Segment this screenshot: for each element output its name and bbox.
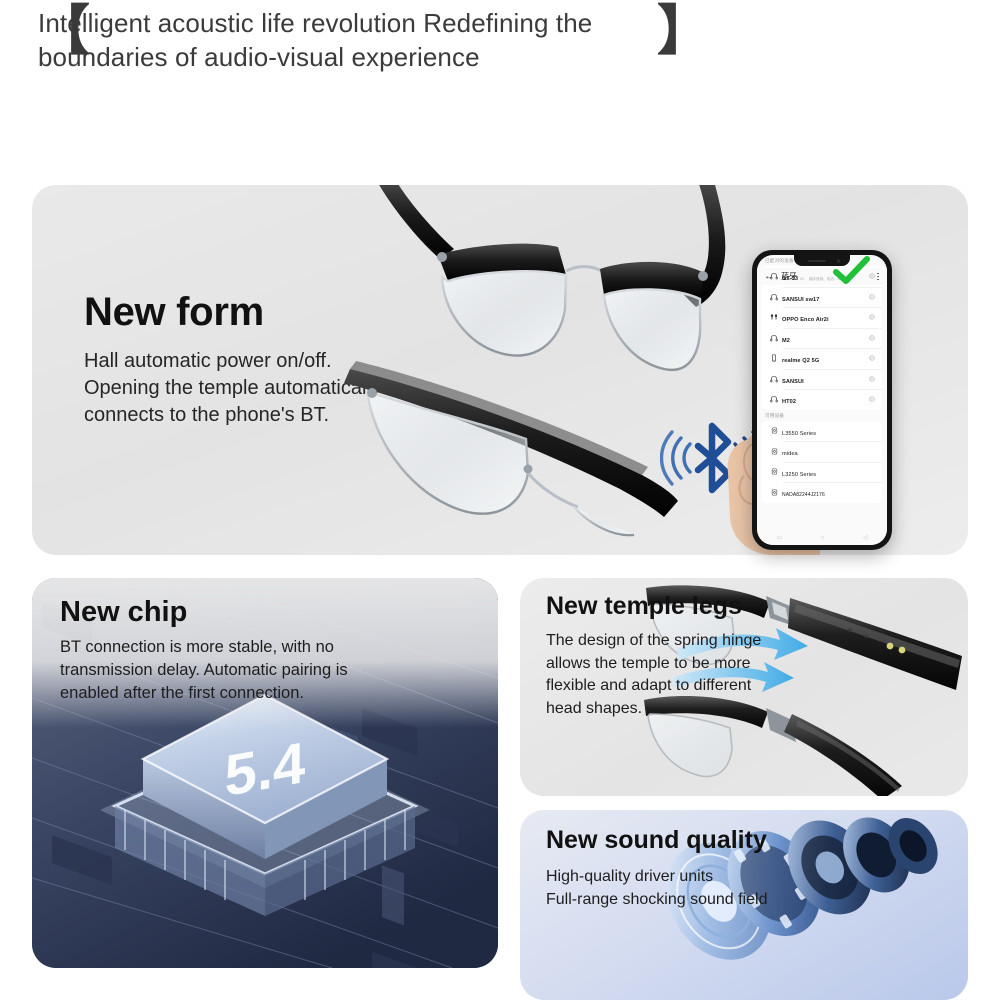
- device-name: SANSUI sw17: [782, 297, 819, 303]
- panel-chip-body-line-2: transmission delay. Automatic pairing is: [60, 659, 420, 682]
- available-section-label: 可用设备: [757, 410, 887, 421]
- device-text: SANSUI: [780, 370, 867, 388]
- connected-check-icon: [831, 256, 871, 286]
- back-button[interactable]: ◁: [863, 534, 868, 541]
- header-line-1: Intelligent acoustic life revolution Red…: [38, 6, 678, 40]
- device-text: L3250 Series: [780, 463, 876, 481]
- panel-form-body-line-2: Opening the temple automatically: [84, 375, 381, 402]
- device-text: NADA82244J2176: [780, 483, 876, 501]
- panel-temple-body-line-2: allows the temple to be more: [546, 653, 796, 676]
- panel-temple-title: New temple legs: [546, 592, 742, 621]
- panel-sound-title: New sound quality: [546, 826, 767, 855]
- page-header: 【 】 Intelligent acoustic life revolution…: [0, 0, 1000, 100]
- panel-temple-body-line-3: flexible and adapt to different: [546, 675, 796, 698]
- device-settings-icon[interactable]: [867, 355, 876, 361]
- list-item[interactable]: OPPO Enco Air2i: [762, 307, 882, 328]
- headphones-icon: [768, 272, 780, 280]
- list-item[interactable]: NADA82244J2176: [762, 482, 882, 503]
- headphones-icon: [768, 334, 780, 342]
- printer-icon: [768, 448, 780, 455]
- panel-temple-body-line-1: The design of the spring hinge: [546, 630, 796, 653]
- device-name: realme Q2 5G: [782, 358, 819, 364]
- phone-navbar: ▭ ○ ◁: [757, 530, 887, 545]
- panel-new-sound-quality: New sound quality High-quality driver un…: [520, 810, 968, 1000]
- device-text: L3550 Series: [780, 422, 876, 440]
- phone-icon: [768, 354, 780, 362]
- panel-chip-body-line-3: enabled after the first connection.: [60, 682, 420, 705]
- panel-temple-body-line-4: head shapes.: [546, 698, 796, 721]
- device-text: realme Q2 5G: [780, 349, 867, 367]
- device-settings-icon[interactable]: [867, 314, 876, 320]
- device-settings-icon[interactable]: [867, 396, 876, 402]
- device-settings-icon[interactable]: [867, 376, 876, 382]
- device-settings-icon[interactable]: [867, 335, 876, 341]
- printer-icon: [768, 468, 780, 475]
- headphones-icon: [768, 395, 780, 403]
- header-text-block: Intelligent acoustic life revolution Red…: [38, 6, 678, 74]
- home-button[interactable]: ○: [821, 535, 825, 541]
- device-text: M2: [780, 329, 867, 347]
- list-item[interactable]: L3250 Series: [762, 462, 882, 483]
- device-text: HT02: [780, 390, 867, 408]
- list-item[interactable]: L3550 Series: [762, 421, 882, 442]
- panel-form-title: New form: [84, 290, 264, 335]
- list-item[interactable]: realme Q2 5G: [762, 348, 882, 369]
- paired-device-list: GT-33MI 媒体音频、电话：80% SANSUI sw17: [762, 266, 882, 410]
- device-text: midea: [780, 442, 876, 460]
- device-text: SANSUI sw17: [780, 288, 867, 306]
- header-line-2: boundaries of audio-visual experience: [38, 40, 678, 74]
- available-device-list: L3550 Series midea L3250 Series: [762, 421, 882, 503]
- device-name: NADA82244J2176: [782, 492, 825, 498]
- panel-sound-body-line-1: High-quality driver units: [546, 865, 846, 888]
- list-item[interactable]: M2: [762, 328, 882, 349]
- device-name: M2: [782, 338, 790, 344]
- list-item[interactable]: HT02: [762, 389, 882, 410]
- earbuds-icon: [768, 313, 780, 321]
- panel-new-temple-legs: New temple legs The design of the spring…: [520, 578, 968, 796]
- device-name: L3250 Series: [782, 472, 816, 478]
- panel-new-chip: 5.4 New chip BT connection is more stabl…: [32, 578, 498, 968]
- panel-sound-body-line-2: Full-range shocking sound field: [546, 888, 846, 911]
- phone-mockup: ← 蓝牙 已配对的设备 GT-33MI 媒体音频、电话：80%: [752, 250, 892, 550]
- headphones-icon: [768, 293, 780, 301]
- printer-icon: [768, 489, 780, 496]
- device-name: SANSUI: [782, 379, 804, 385]
- panel-form-body: Hall automatic power on/off. Opening the…: [84, 348, 381, 429]
- device-name: HT02: [782, 399, 796, 405]
- recents-button[interactable]: ▭: [776, 534, 782, 541]
- phone-screen: ← 蓝牙 已配对的设备 GT-33MI 媒体音频、电话：80%: [757, 255, 887, 545]
- device-text: OPPO Enco Air2i: [780, 308, 867, 326]
- panel-form-body-line-1: Hall automatic power on/off.: [84, 348, 381, 375]
- list-item[interactable]: SANSUI sw17: [762, 287, 882, 308]
- device-name: OPPO Enco Air2i: [782, 317, 829, 323]
- panel-chip-body: BT connection is more stable, with no tr…: [60, 636, 420, 705]
- panel-chip-title: New chip: [60, 596, 187, 629]
- panel-chip-body-line-1: BT connection is more stable, with no: [60, 636, 420, 659]
- list-item[interactable]: SANSUI: [762, 369, 882, 390]
- device-name: midea: [782, 451, 798, 457]
- bt-wave-left-icon: [662, 432, 691, 484]
- earpiece-speaker-icon: [808, 260, 826, 263]
- device-name: GT-33MI: [782, 276, 804, 282]
- device-name: L3550 Series: [782, 431, 816, 437]
- headphones-icon: [768, 375, 780, 383]
- panel-form-body-line-3: connects to the phone's BT.: [84, 402, 381, 429]
- device-settings-icon[interactable]: [867, 294, 876, 300]
- panel-sound-body: High-quality driver units Full-range sho…: [546, 865, 846, 911]
- printer-icon: [768, 427, 780, 434]
- list-item[interactable]: midea: [762, 441, 882, 462]
- panel-temple-body: The design of the spring hinge allows th…: [546, 630, 796, 720]
